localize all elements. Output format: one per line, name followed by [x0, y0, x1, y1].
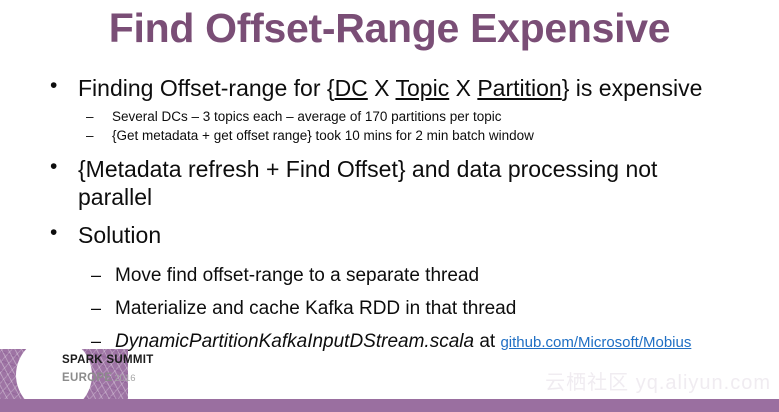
bullet-item: • Finding Offset-range for {DC X Topic X… — [0, 74, 779, 102]
sub-bullet-text: Move find offset-range to a separate thr… — [115, 265, 479, 286]
bullet-text-part-underlined: Topic — [396, 75, 450, 101]
spark-summit-logo: SPARK SUMMIT EUROPE2016 — [62, 355, 154, 386]
bullet-item: • {Metadata refresh + Find Offset} and d… — [0, 155, 779, 212]
bullet-marker: • — [50, 154, 57, 180]
bullet-text: Finding Offset-range for {DC X Topic X P… — [78, 75, 702, 101]
sub-bullet-text: Several DCs – 3 topics each – average of… — [112, 109, 501, 124]
sub-bullet-marker: – — [91, 262, 101, 288]
slide-body: • Finding Offset-range for {DC X Topic X… — [0, 74, 779, 355]
bullet-text-part-underlined: Partition — [477, 75, 561, 101]
sub-bullet-text: {Get metadata + get offset range} took 1… — [112, 128, 534, 143]
logo-line-europe: EUROPE — [62, 372, 112, 384]
sub-bullet-text: Materialize and cache Kafka RDD in that … — [115, 298, 516, 319]
bullet-text: {Metadata refresh + Find Offset} and dat… — [78, 156, 657, 210]
sub-bullet-text: at — [474, 331, 500, 352]
logo-line-spark-summit: SPARK SUMMIT — [62, 355, 154, 367]
code-file-name: DynamicPartitionKafkaInputDStream.scala — [115, 331, 474, 352]
watermark-text: 云栖社区 yq.aliyun.com — [545, 366, 771, 395]
github-mobius-link[interactable]: github.com/Microsoft/Mobius — [500, 334, 691, 351]
sub-bullet-marker: – — [91, 295, 101, 321]
bullet-item: • Solution — [0, 221, 779, 249]
logo-line-year: 2016 — [114, 373, 135, 384]
sub-bullet-marker: – — [86, 107, 94, 126]
footer-bar — [0, 399, 779, 412]
bullet-text-part: } is expensive — [562, 75, 703, 101]
bullet-text-part: X — [368, 75, 396, 101]
sub-bullet-marker: – — [86, 126, 94, 145]
slide: Find Offset-Range Expensive • Finding Of… — [0, 0, 779, 412]
sub-bullet-item: – {Get metadata + get offset range} took… — [0, 126, 779, 145]
sub-bullet-item: – Materialize and cache Kafka RDD in tha… — [0, 295, 779, 323]
bullet-text-part-underlined: DC — [335, 75, 368, 101]
page-title: Find Offset-Range Expensive — [0, 6, 779, 52]
bullet-marker: • — [50, 73, 57, 99]
bullet-text-part: X — [449, 75, 477, 101]
sub-bullet-item: – Several DCs – 3 topics each – average … — [0, 107, 779, 126]
bullet-text: Solution — [78, 222, 161, 248]
bullet-text-part: Finding Offset-range for { — [78, 75, 335, 101]
bullet-marker: • — [50, 220, 57, 246]
sub-bullet-item: – Move find offset-range to a separate t… — [0, 262, 779, 290]
